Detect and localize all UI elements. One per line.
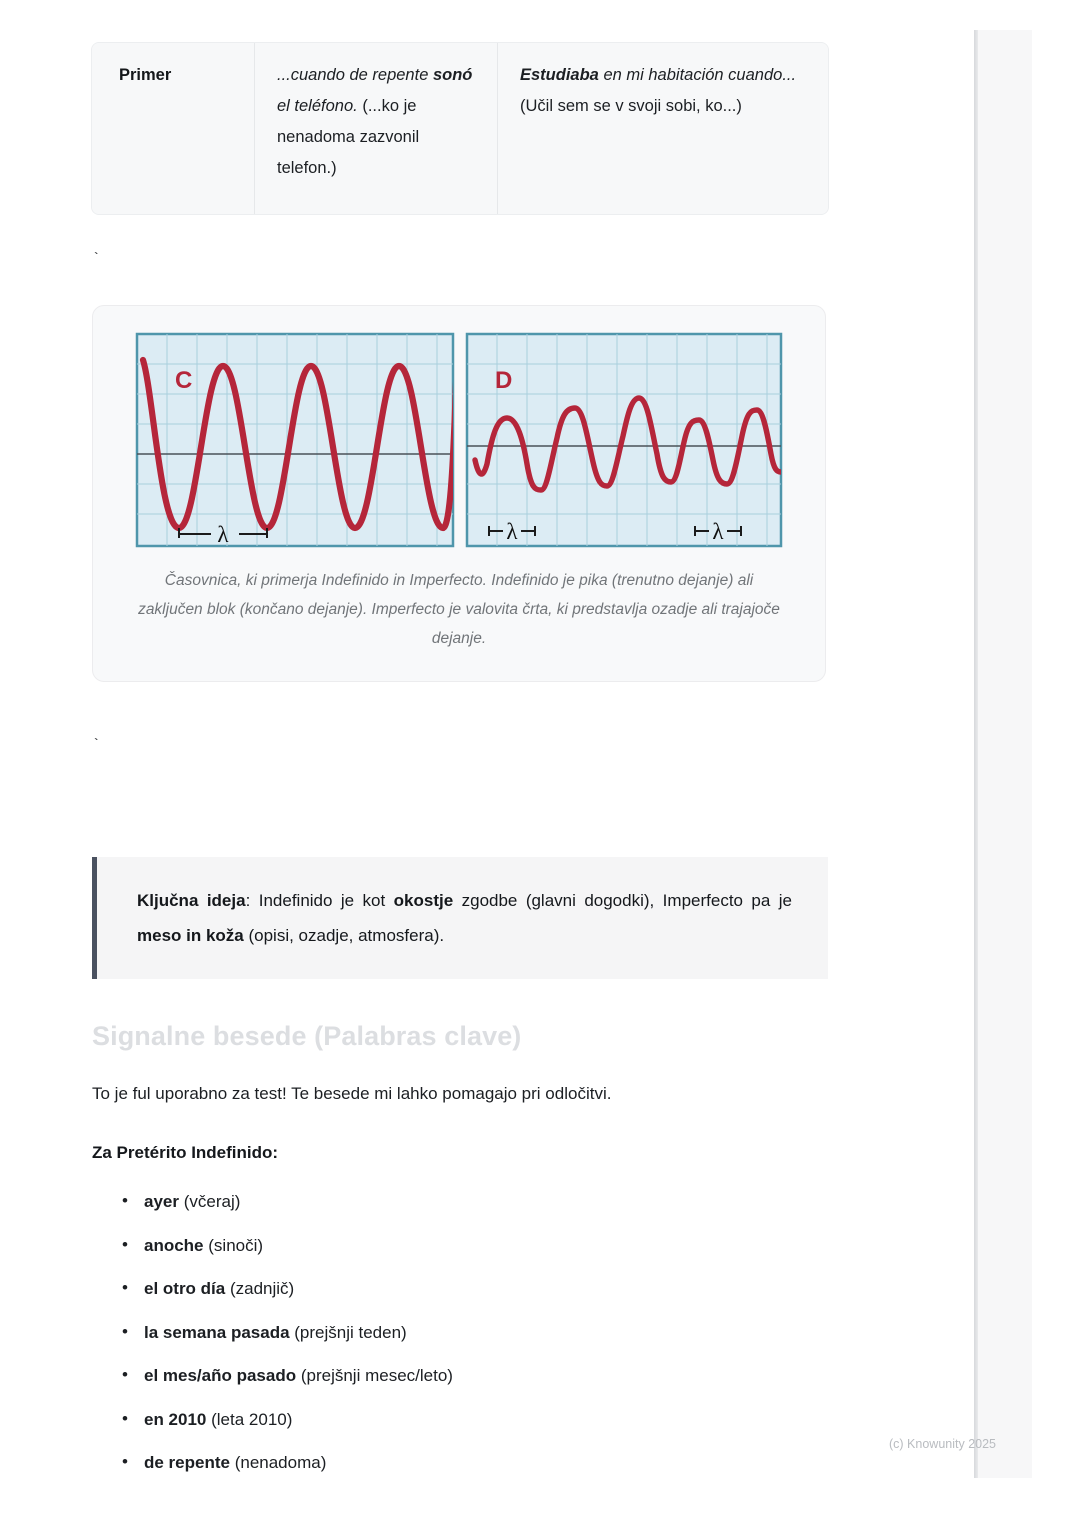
table-row-label: Primer — [92, 43, 255, 214]
list-item: ayer (včeraj) — [122, 1190, 828, 1214]
panel-c-label: C — [175, 367, 192, 394]
signal-term: la semana pasada — [144, 1323, 290, 1342]
key-idea-emphasis-2: meso in koža — [137, 926, 244, 945]
list-item: el otro día (zadnjič) — [122, 1277, 828, 1301]
example-bold-verb: sonó — [433, 66, 472, 84]
table-cell-imperfecto-example: Estudiaba en mi habitación cuando... (Uč… — [498, 43, 828, 214]
key-idea-lead: Ključna ideja — [137, 891, 246, 910]
page-title: Signalne besede (Palabras clave) — [92, 1019, 828, 1053]
lambda-symbol-d-left: λ — [506, 519, 518, 544]
signal-gloss: (sinoči) — [204, 1236, 264, 1255]
example-mid: en mi habitación cuando... — [599, 66, 796, 84]
lambda-symbol-c: λ — [217, 522, 229, 547]
signal-term: anoche — [144, 1236, 204, 1255]
signal-term: ayer — [144, 1192, 179, 1211]
signal-gloss: (zadnjič) — [225, 1279, 294, 1298]
key-idea-part-1: : Indefinido je kot — [246, 891, 394, 910]
lambda-symbol-d-right: λ — [712, 519, 724, 544]
figure-card: C λ — [92, 305, 826, 682]
list-item: el mes/año pasado (prejšnji mesec/leto) — [122, 1364, 828, 1388]
page-right-margin — [978, 30, 1032, 1478]
list-item: anoche (sinoči) — [122, 1234, 828, 1258]
document-content: Primer ...cuando de repente sonó el telé… — [92, 0, 828, 1495]
stray-backtick-mark: ` — [92, 252, 828, 266]
section-paragraph: To je ful uporabno za test! Te besede mi… — [92, 1080, 828, 1108]
list-item: en 2010 (leta 2010) — [122, 1408, 828, 1432]
example-tail: el teléfono. — [277, 97, 358, 115]
panel-d-label: D — [495, 367, 512, 394]
stray-backtick-mark: ` — [92, 738, 828, 752]
key-idea-part-2: zgodbe (glavni dogodki), Imperfecto pa j… — [453, 891, 792, 910]
example-translation: (Učil sem se v svoji sobi, ko...) — [520, 97, 742, 115]
signal-gloss: (prejšnji teden) — [290, 1323, 407, 1342]
copyright-watermark: (c) Knowunity 2025 — [889, 1437, 996, 1451]
signal-gloss: (prejšnji mesec/leto) — [296, 1366, 453, 1385]
wave-figure: C λ — [126, 332, 792, 548]
comparison-table: Primer ...cuando de repente sonó el telé… — [92, 43, 828, 214]
signal-gloss: (včeraj) — [179, 1192, 240, 1211]
example-bold-verb: Estudiaba — [520, 66, 599, 84]
signal-term: el mes/año pasado — [144, 1366, 296, 1385]
signal-words-list: ayer (včeraj) anoche (sinoči) el otro dí… — [92, 1190, 828, 1475]
signal-term: el otro día — [144, 1279, 225, 1298]
table-row: Primer ...cuando de repente sonó el telé… — [92, 43, 828, 214]
key-idea-emphasis-1: okostje — [394, 891, 454, 910]
key-idea-part-3: (opisi, ozadje, atmosfera). — [244, 926, 444, 945]
table-cell-indefinido-example: ...cuando de repente sonó el teléfono. (… — [255, 43, 498, 214]
signal-term: en 2010 — [144, 1410, 206, 1429]
waveform-panel-c: C λ — [135, 332, 455, 548]
key-idea-callout: Ključna ideja: Indefinido je kot okostje… — [92, 857, 828, 979]
list-item: la semana pasada (prejšnji teden) — [122, 1321, 828, 1345]
key-idea-text: Ključna ideja: Indefinido je kot okostje… — [137, 883, 792, 953]
signal-gloss: (leta 2010) — [206, 1410, 292, 1429]
signal-term: de repente — [144, 1453, 230, 1472]
example-lead: ...cuando de repente — [277, 66, 433, 84]
signal-gloss: (nenadoma) — [230, 1453, 326, 1472]
sub-section-label: Za Pretérito Indefinido: — [92, 1140, 828, 1166]
list-item: de repente (nenadoma) — [122, 1451, 828, 1475]
document-page: Primer ...cuando de repente sonó el telé… — [0, 0, 1032, 1478]
waveform-panel-d: D λ λ — [465, 332, 783, 548]
figure-caption: Časovnica, ki primerja Indefinido in Imp… — [126, 566, 792, 653]
